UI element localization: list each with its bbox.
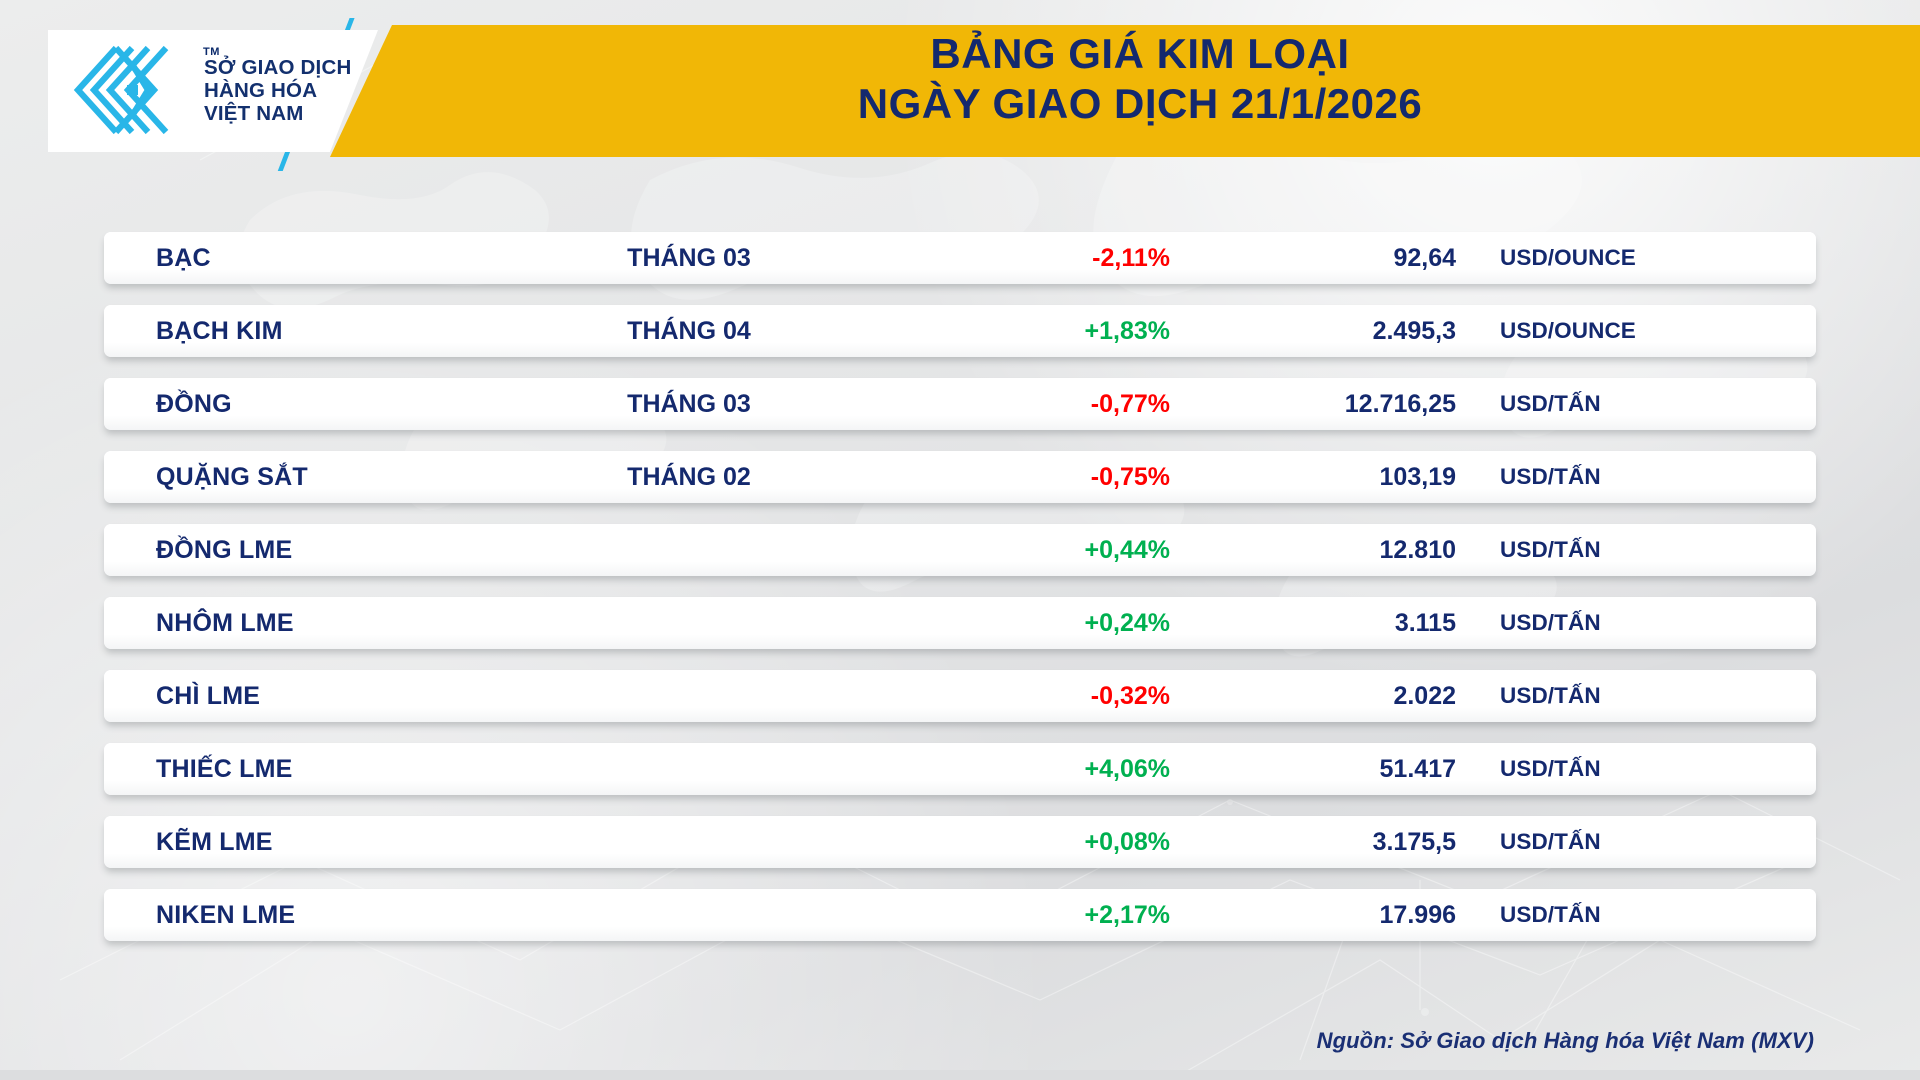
price-unit: USD/TẤN <box>1464 537 1816 563</box>
table-row[interactable]: BẠCTHÁNG 03-2,11%92,64USD/OUNCE <box>104 232 1816 284</box>
table-row[interactable]: ĐỒNG LME+0,44%12.810USD/TẤN <box>104 524 1816 576</box>
commodity-name: ĐỒNG LME <box>104 536 524 565</box>
title-line-1: BẢNG GIÁ KIM LOẠI <box>540 32 1740 77</box>
price-unit: USD/TẤN <box>1464 391 1816 417</box>
commodity-name: NIKEN LME <box>104 901 524 930</box>
brand-text: TM SỞ GIAO DỊCH HÀNG HÓA VIỆT NAM <box>204 56 351 125</box>
commodity-name: ĐỒNG <box>104 390 524 419</box>
change-percent: +2,17% <box>854 901 1184 930</box>
brand-line-3: VIỆT NAM <box>204 102 351 125</box>
price-value: 17.996 <box>1184 901 1464 930</box>
change-percent: +4,06% <box>854 755 1184 784</box>
price-value: 12.716,25 <box>1184 390 1464 419</box>
change-percent: -0,32% <box>854 682 1184 711</box>
table-row[interactable]: CHÌ LME-0,32%2.022USD/TẤN <box>104 670 1816 722</box>
price-unit: USD/TẤN <box>1464 902 1816 928</box>
commodity-name: NHÔM LME <box>104 609 524 638</box>
change-percent: -2,11% <box>854 244 1184 273</box>
table-row[interactable]: QUẶNG SẮTTHÁNG 02-0,75%103,19USD/TẤN <box>104 451 1816 503</box>
metal-price-board: TM SỞ GIAO DỊCH HÀNG HÓA VIỆT NAM BẢNG G… <box>0 0 1920 1080</box>
price-value: 2.022 <box>1184 682 1464 711</box>
table-row[interactable]: KẼM LME+0,08%3.175,5USD/TẤN <box>104 816 1816 868</box>
change-percent: +0,44% <box>854 536 1184 565</box>
change-percent: -0,75% <box>854 463 1184 492</box>
bottom-bar <box>0 1070 1920 1080</box>
contract-month: THÁNG 03 <box>524 390 854 419</box>
change-percent: +1,83% <box>854 317 1184 346</box>
price-table: BẠCTHÁNG 03-2,11%92,64USD/OUNCEBẠCH KIMT… <box>104 232 1816 962</box>
brand-line-2: HÀNG HÓA <box>204 79 351 102</box>
table-row[interactable]: NHÔM LME+0,24%3.115USD/TẤN <box>104 597 1816 649</box>
commodity-name: CHÌ LME <box>104 682 524 711</box>
price-value: 2.495,3 <box>1184 317 1464 346</box>
change-percent: -0,77% <box>854 390 1184 419</box>
mxv-chevron-logo-icon <box>70 44 194 136</box>
price-value: 51.417 <box>1184 755 1464 784</box>
commodity-name: BẠC <box>104 244 524 273</box>
brand-line-1: SỞ GIAO DỊCH <box>204 56 351 79</box>
source-note: Nguồn: Sở Giao dịch Hàng hóa Việt Nam (M… <box>1317 1028 1814 1054</box>
contract-month: THÁNG 04 <box>524 317 854 346</box>
contract-month: THÁNG 02 <box>524 463 854 492</box>
trademark-mark: TM <box>203 46 220 58</box>
table-row[interactable]: THIẾC LME+4,06%51.417USD/TẤN <box>104 743 1816 795</box>
price-unit: USD/TẤN <box>1464 756 1816 782</box>
commodity-name: KẼM LME <box>104 828 524 857</box>
table-row[interactable]: ĐỒNGTHÁNG 03-0,77%12.716,25USD/TẤN <box>104 378 1816 430</box>
price-unit: USD/TẤN <box>1464 610 1816 636</box>
price-value: 3.115 <box>1184 609 1464 638</box>
brand-logo: TM SỞ GIAO DỊCH HÀNG HÓA VIỆT NAM <box>70 44 351 136</box>
price-value: 92,64 <box>1184 244 1464 273</box>
commodity-name: THIẾC LME <box>104 755 524 784</box>
price-value: 3.175,5 <box>1184 828 1464 857</box>
header: TM SỞ GIAO DỊCH HÀNG HÓA VIỆT NAM BẢNG G… <box>0 0 1920 172</box>
contract-month: THÁNG 03 <box>524 244 854 273</box>
table-row[interactable]: NIKEN LME+2,17%17.996USD/TẤN <box>104 889 1816 941</box>
change-percent: +0,24% <box>854 609 1184 638</box>
price-unit: USD/TẤN <box>1464 829 1816 855</box>
price-unit: USD/TẤN <box>1464 464 1816 490</box>
price-value: 12.810 <box>1184 536 1464 565</box>
price-unit: USD/TẤN <box>1464 683 1816 709</box>
table-row[interactable]: BẠCH KIMTHÁNG 04+1,83%2.495,3USD/OUNCE <box>104 305 1816 357</box>
price-unit: USD/OUNCE <box>1464 245 1816 271</box>
title-line-2: NGÀY GIAO DỊCH 21/1/2026 <box>540 82 1740 127</box>
commodity-name: BẠCH KIM <box>104 317 524 346</box>
price-value: 103,19 <box>1184 463 1464 492</box>
price-unit: USD/OUNCE <box>1464 318 1816 344</box>
commodity-name: QUẶNG SẮT <box>104 463 524 492</box>
page-title: BẢNG GIÁ KIM LOẠI NGÀY GIAO DỊCH 21/1/20… <box>540 32 1740 126</box>
change-percent: +0,08% <box>854 828 1184 857</box>
